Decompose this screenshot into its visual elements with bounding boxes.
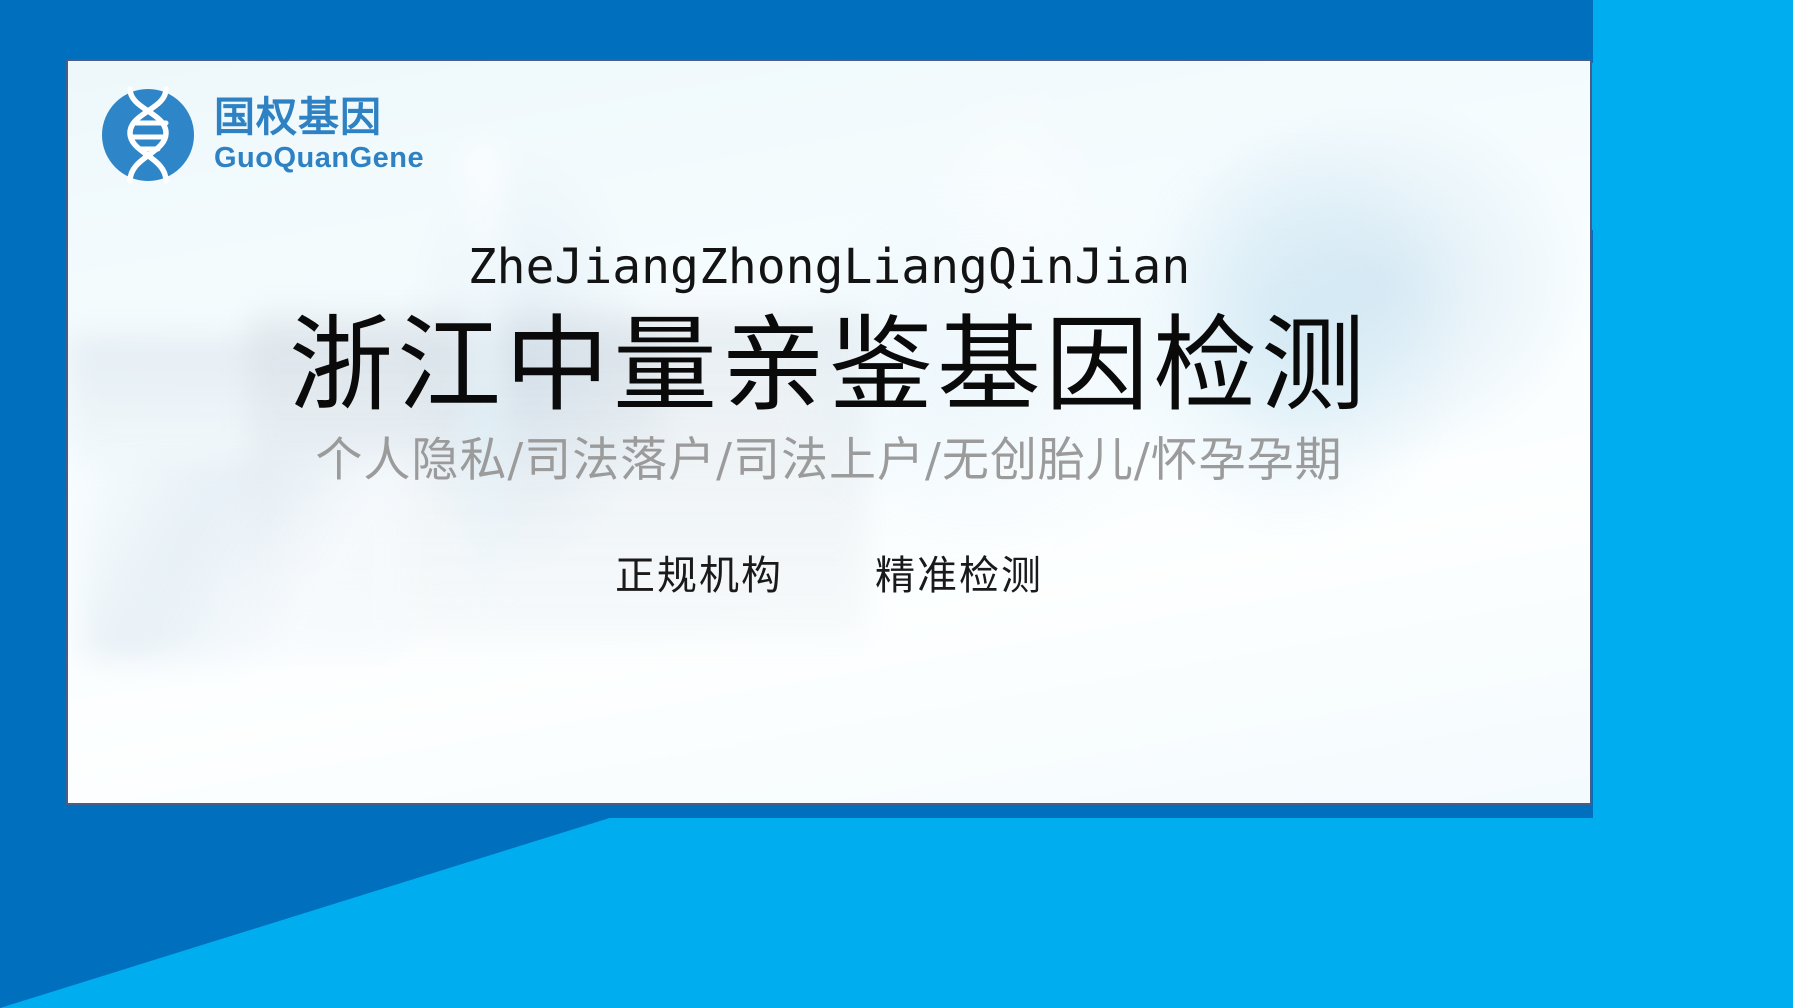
- page-title: 浙江中量亲鉴基因检测: [68, 304, 1590, 427]
- pinyin-line: ZheJiangZhongLiangQinJian: [68, 241, 1590, 294]
- tagline-item-0: 正规机构: [615, 543, 783, 601]
- brand-name-cn: 国权基因: [214, 97, 424, 138]
- tagline-row: 正规机构 精准检测: [68, 543, 1590, 601]
- services-subtitle: 个人隐私/司法落户/司法上户/无创胎儿/怀孕孕期: [68, 433, 1590, 489]
- dna-helix-icon: [96, 83, 200, 187]
- brand-logo: 国权基因 GuoQuanGene: [96, 83, 424, 187]
- brand-name-en: GuoQuanGene: [214, 144, 424, 173]
- content-card: 国权基因 GuoQuanGene ZheJiangZhongLiangQinJi…: [66, 59, 1592, 805]
- tagline-item-1: 精准检测: [875, 543, 1043, 601]
- headline-block: ZheJiangZhongLiangQinJian 浙江中量亲鉴基因检测 个人隐…: [68, 241, 1590, 601]
- brand-logo-text: 国权基因 GuoQuanGene: [214, 97, 424, 173]
- poster-root: 国权基因 GuoQuanGene ZheJiangZhongLiangQinJi…: [0, 0, 1793, 1008]
